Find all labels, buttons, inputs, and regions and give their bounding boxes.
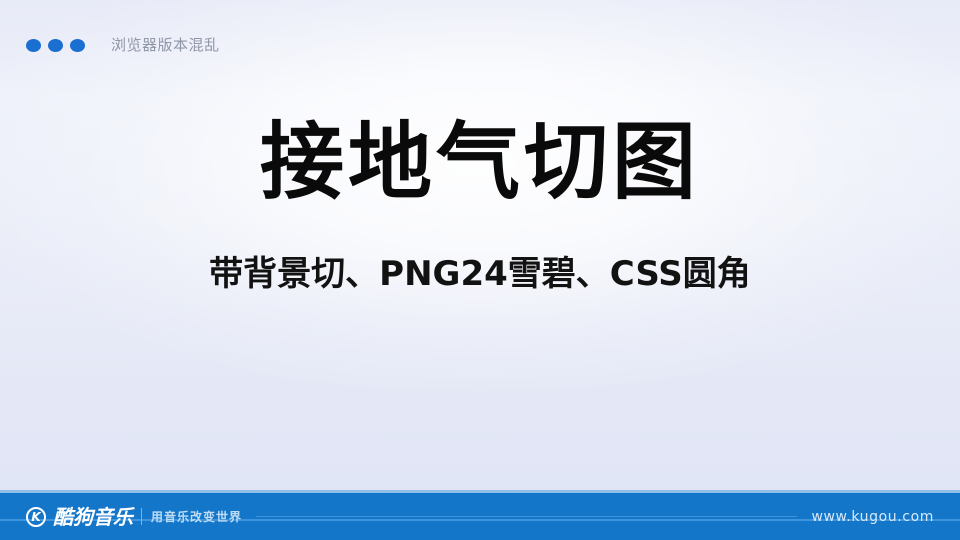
brand-tagline: 用音乐改变世界 [151,511,242,523]
page-title: 接地气切图 [260,118,700,206]
brand-lockup: K 酷狗音乐 [26,507,133,527]
page-subtitle: 带背景切、PNG24雪碧、CSS圆角 [209,254,751,295]
slide-canvas: 浏览器版本混乱 接地气切图 带背景切、PNG24雪碧、CSS圆角 K 酷狗音乐 … [0,0,960,540]
footer-bar: K 酷狗音乐 用音乐改变世界 www.kugou.com [0,490,960,540]
footer-rule [256,516,797,517]
kugou-logo-icon: K [26,507,46,527]
brand-name: 酷狗音乐 [53,507,133,527]
brand-separator [141,508,142,525]
site-url: www.kugou.com [811,510,934,524]
footer-content: K 酷狗音乐 用音乐改变世界 www.kugou.com [0,492,960,540]
slide-body: 接地气切图 带背景切、PNG24雪碧、CSS圆角 [0,0,960,490]
